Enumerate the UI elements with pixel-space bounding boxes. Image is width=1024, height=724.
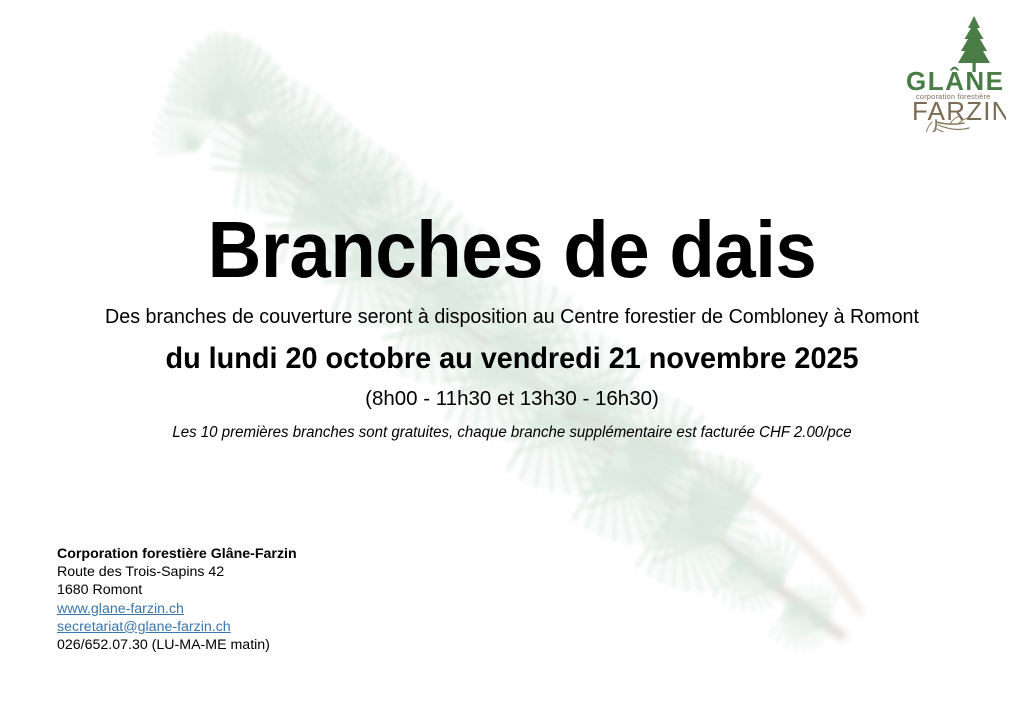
contact-block: Corporation forestière Glâne-Farzin Rout… xyxy=(57,545,297,654)
contact-street: Route des Trois-Sapins 42 xyxy=(57,563,297,581)
contact-website-link[interactable]: www.glane-farzin.ch xyxy=(57,600,297,618)
contact-email-link[interactable]: secretariat@glane-farzin.ch xyxy=(57,618,297,636)
contact-city: 1680 Romont xyxy=(57,581,297,599)
contact-organisation: Corporation forestière Glâne-Farzin xyxy=(57,545,297,563)
poster-subtitle: Des branches de couverture seront à disp… xyxy=(20,304,1003,330)
poster-dates: du lundi 20 octobre au vendredi 21 novem… xyxy=(20,341,1003,377)
poster-hours: (8h00 - 11h30 et 13h30 - 16h30) xyxy=(0,386,1024,412)
fir-tree-icon xyxy=(958,16,990,72)
page-title: Branches de dais xyxy=(36,208,988,292)
contact-phone: 026/652.07.30 (LU-MA-ME matin) xyxy=(57,636,297,654)
logo-farzin: FARZIN xyxy=(912,96,1006,126)
poster-price-note: Les 10 premières branches sont gratuites… xyxy=(15,423,1008,443)
glane-farzin-logo: GLÂNE corporation forestière FARZIN xyxy=(902,10,1006,132)
